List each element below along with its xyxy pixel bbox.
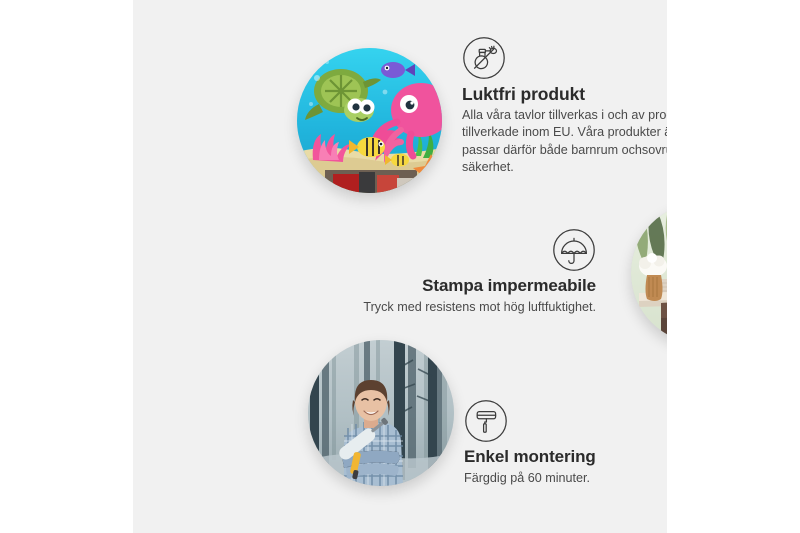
feature-body: Färgdig på 60 minuter. [464, 470, 667, 487]
feature-odourless: Luktfri produkt Alla våra tavlor tillver… [462, 36, 667, 176]
paint-roller-icon [464, 399, 508, 443]
photo-installer [308, 340, 454, 486]
feature-body: Alla våra tavlor tillverkas i och av pro… [462, 107, 667, 176]
product-feature-panel: Luktfri produkt Alla våra tavlor tillver… [0, 0, 800, 533]
underwater-illustration [297, 48, 442, 193]
feature-body: Tryck med resistens mot hög luftfuktighe… [343, 299, 596, 316]
feature-title: Luktfri produkt [462, 84, 667, 104]
umbrella-icon [552, 228, 596, 272]
feature-waterproof: Stampa impermeabile Tryck med resistens … [343, 228, 596, 316]
feature-title: Enkel montering [464, 447, 667, 467]
bathroom-photo [631, 203, 667, 343]
feature-title: Stampa impermeabile [343, 276, 596, 296]
installer-photo [308, 340, 454, 486]
grey-content-panel: Luktfri produkt Alla våra tavlor tillver… [133, 0, 667, 533]
photo-bathroom [631, 203, 667, 343]
feature-easyinstall: Enkel montering Färgdig på 60 minuter. [464, 399, 667, 487]
photo-underwater [297, 48, 442, 193]
no-odour-perfume-bottle-icon [462, 36, 506, 80]
